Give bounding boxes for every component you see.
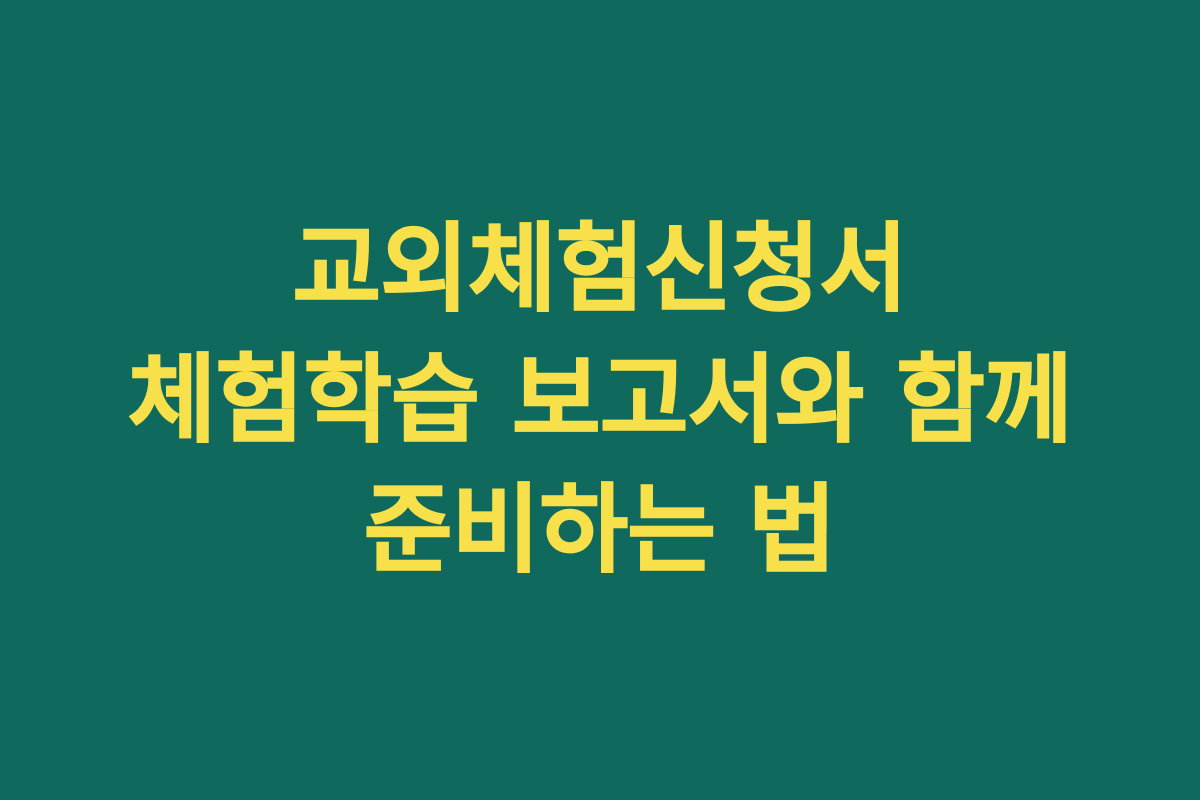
thumbnail-card: 교외체험신청서 체험학습 보고서와 함께 준비하는 법: [0, 0, 1200, 800]
headline-block: 교외체험신청서 체험학습 보고서와 함께 준비하는 법: [100, 204, 1100, 596]
headline-text: 교외체험신청서 체험학습 보고서와 함께 준비하는 법: [112, 204, 1088, 596]
